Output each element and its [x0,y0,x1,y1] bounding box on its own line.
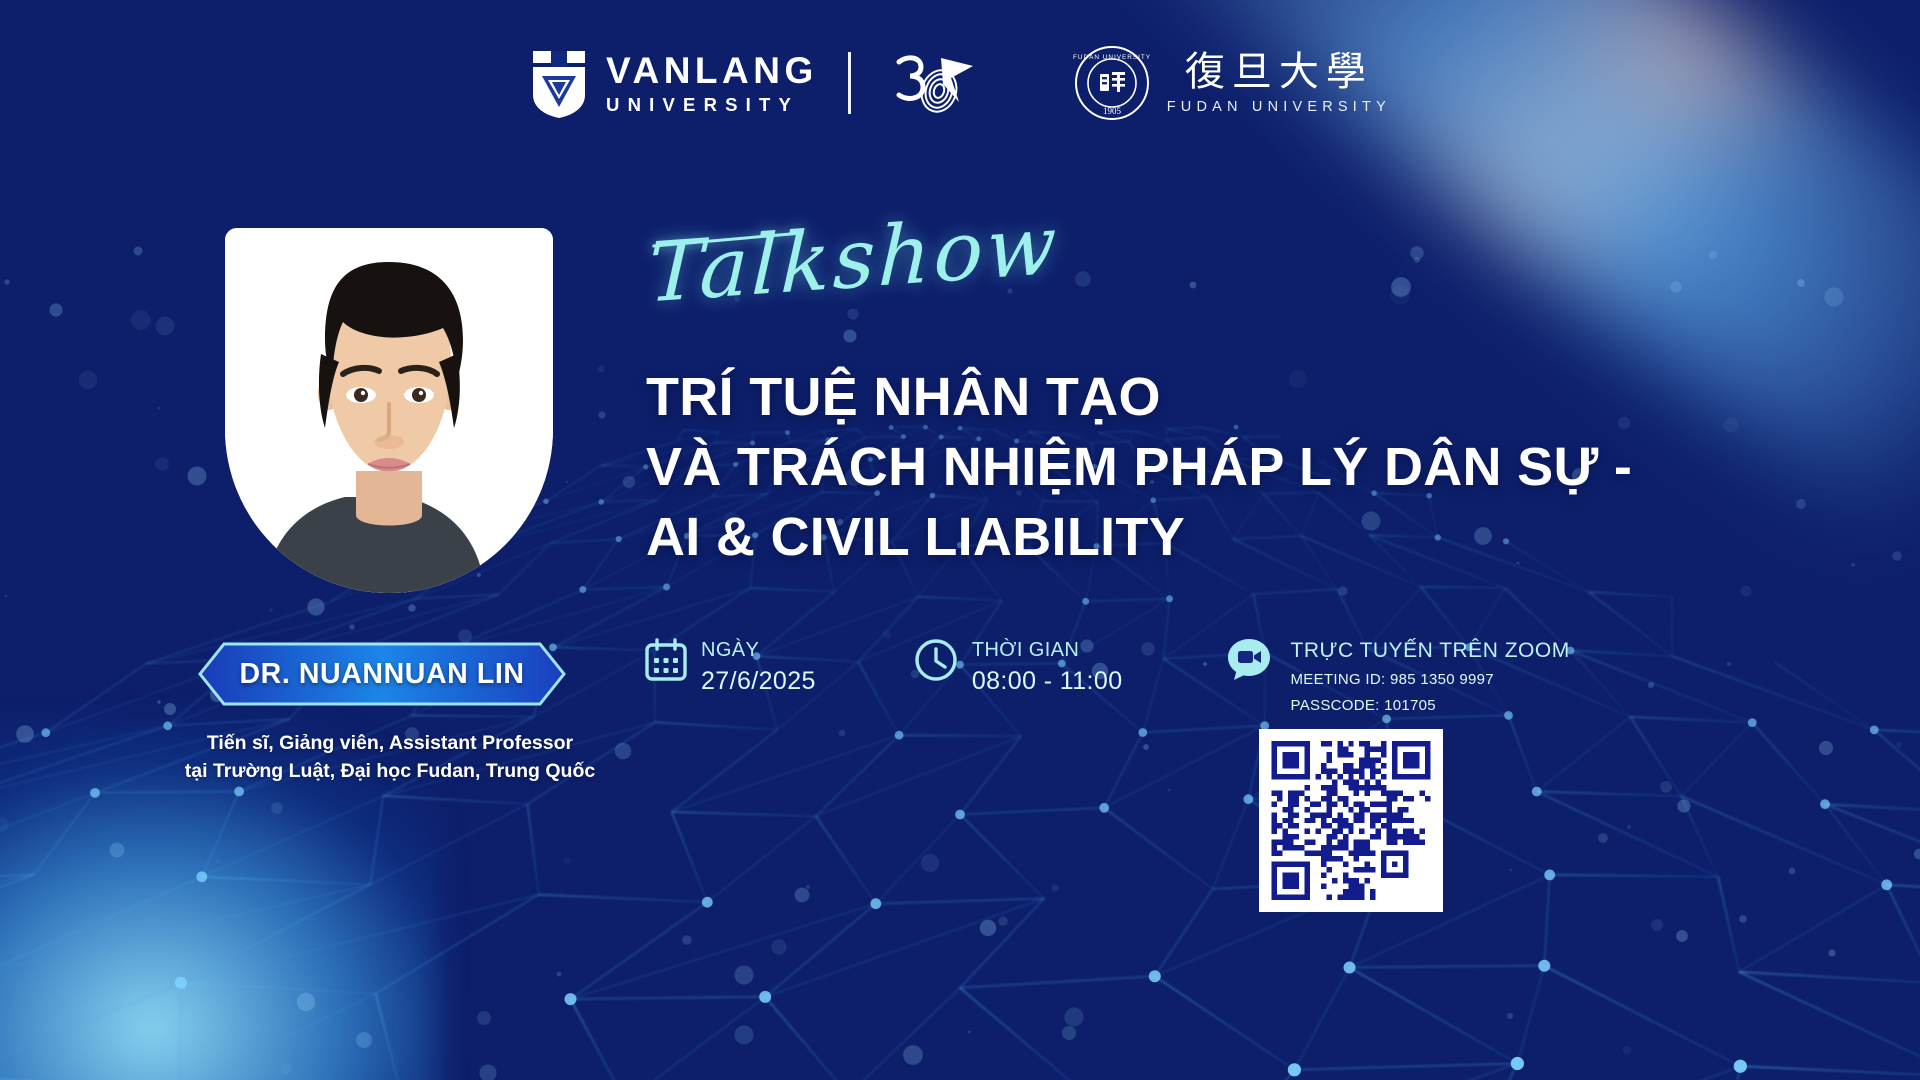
fudan-logo: FUDAN UNIVERSITY 1905 復旦大學 FUDAN UNIVERS… [1073,44,1391,122]
title-line-2: VÀ TRÁCH NHIỆM PHÁP LÝ DÂN SỰ - [646,432,1836,502]
video-camera-icon [1227,638,1275,682]
clock-icon [914,638,958,682]
logo-divider [848,52,851,114]
time-value: 08:00 - 11:00 [972,666,1123,697]
qr-code[interactable] [1259,729,1443,912]
speaker-portrait [225,228,553,593]
time-label: THỜI GIAN [972,638,1123,662]
event-time: THỜI GIAN 08:00 - 11:00 [914,638,1123,697]
fudan-name-en: FUDAN UNIVERSITY [1167,99,1391,115]
vanlang-shield-icon [529,47,589,119]
vanlang-subname: UNIVERSITY [606,96,818,115]
page-title: TRÍ TUỆ NHÂN TẠO VÀ TRÁCH NHIỆM PHÁP LÝ … [646,362,1836,573]
credentials-line-1: Tiến sĩ, Giảng viên, Assistant Professor [140,730,640,758]
vanlang-name: VANLANG [606,52,818,89]
speaker-credentials: Tiến sĩ, Giảng viên, Assistant Professor… [140,730,640,785]
fudan-seal-icon: FUDAN UNIVERSITY 1905 [1073,44,1151,122]
event-zoom: TRỰC TUYẾN TRÊN ZOOM MEETING ID: 985 135… [1227,638,1570,716]
date-label: NGÀY [701,638,816,662]
svg-text:FUDAN UNIVERSITY: FUDAN UNIVERSITY [1073,54,1151,61]
poster-canvas: VANLANG UNIVERSITY FUDAN UNIVERSITY [0,0,1920,1080]
svg-text:1905: 1905 [1103,106,1122,116]
date-value: 27/6/2025 [701,666,816,697]
qr-code-image [1271,741,1431,900]
fudan-name-cn: 復旦大學 [1185,51,1373,93]
30-anniversary-logo [881,44,977,122]
header-logos: VANLANG UNIVERSITY FUDAN UNIVERSITY [0,44,1920,122]
vanlang-logo: VANLANG UNIVERSITY [529,47,818,119]
speaker-name: DR. NUANNUAN LIN [196,640,568,708]
zoom-meeting-id: MEETING ID: 985 1350 9997 [1291,669,1570,690]
credentials-line-2: tại Trường Luật, Đại học Fudan, Trung Qu… [140,758,640,786]
event-date: NGÀY 27/6/2025 [645,638,816,697]
calendar-icon [645,638,687,682]
zoom-passcode: PASSCODE: 101705 [1291,695,1570,716]
zoom-label: TRỰC TUYẾN TRÊN ZOOM [1291,638,1570,664]
title-line-3: AI & CIVIL LIABILITY [646,502,1836,572]
portrait-image [225,228,553,593]
title-line-1: TRÍ TUỆ NHÂN TẠO [646,362,1836,432]
event-info-row: NGÀY 27/6/2025 THỜI GIAN 08:00 - 11:00 [645,638,1570,716]
speaker-name-banner: DR. NUANNUAN LIN [196,640,568,708]
